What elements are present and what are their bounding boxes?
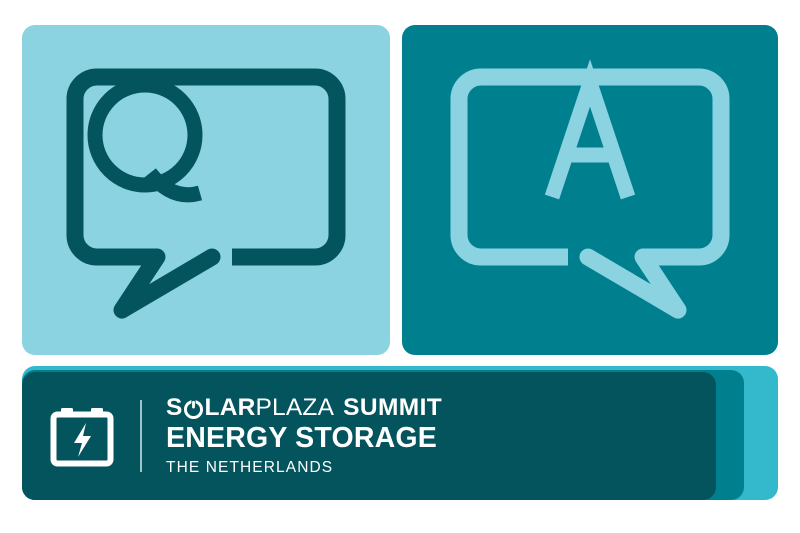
logo-word-solar: S LAR [166, 395, 256, 421]
battery-bolt-icon [50, 405, 114, 467]
logo-word-plaza: PLAZA [256, 395, 335, 421]
logo-text-block: S LAR PLAZASUMMIT ENERGY STORAGE THE NET… [166, 395, 442, 477]
answer-panel [402, 25, 778, 355]
answer-speech-bubble-icon [402, 25, 778, 355]
bubble-tail [588, 257, 690, 310]
letter-a [552, 83, 628, 197]
logo-line-the-netherlands: THE NETHERLANDS [166, 459, 442, 477]
logo-bar-stack: S LAR PLAZASUMMIT ENERGY STORAGE THE NET… [22, 366, 778, 506]
question-speech-bubble-icon [22, 25, 390, 355]
stack-layer-front: S LAR PLAZASUMMIT ENERGY STORAGE THE NET… [22, 372, 716, 500]
logo-divider [140, 400, 142, 472]
logo-line-energy-storage: ENERGY STORAGE [166, 423, 442, 454]
slide-canvas: S LAR PLAZASUMMIT ENERGY STORAGE THE NET… [0, 0, 800, 533]
question-panel [22, 25, 390, 355]
logo-word-solar-rest: LAR [205, 395, 256, 421]
bubble-tail [110, 257, 212, 310]
letter-q [95, 85, 200, 195]
logo-word-summit: SUMMIT [343, 395, 442, 421]
power-o-icon [183, 399, 204, 420]
logo-lockup: S LAR PLAZASUMMIT ENERGY STORAGE THE NET… [50, 372, 442, 500]
logo-line-solarplaza-summit: S LAR PLAZASUMMIT [166, 395, 442, 421]
